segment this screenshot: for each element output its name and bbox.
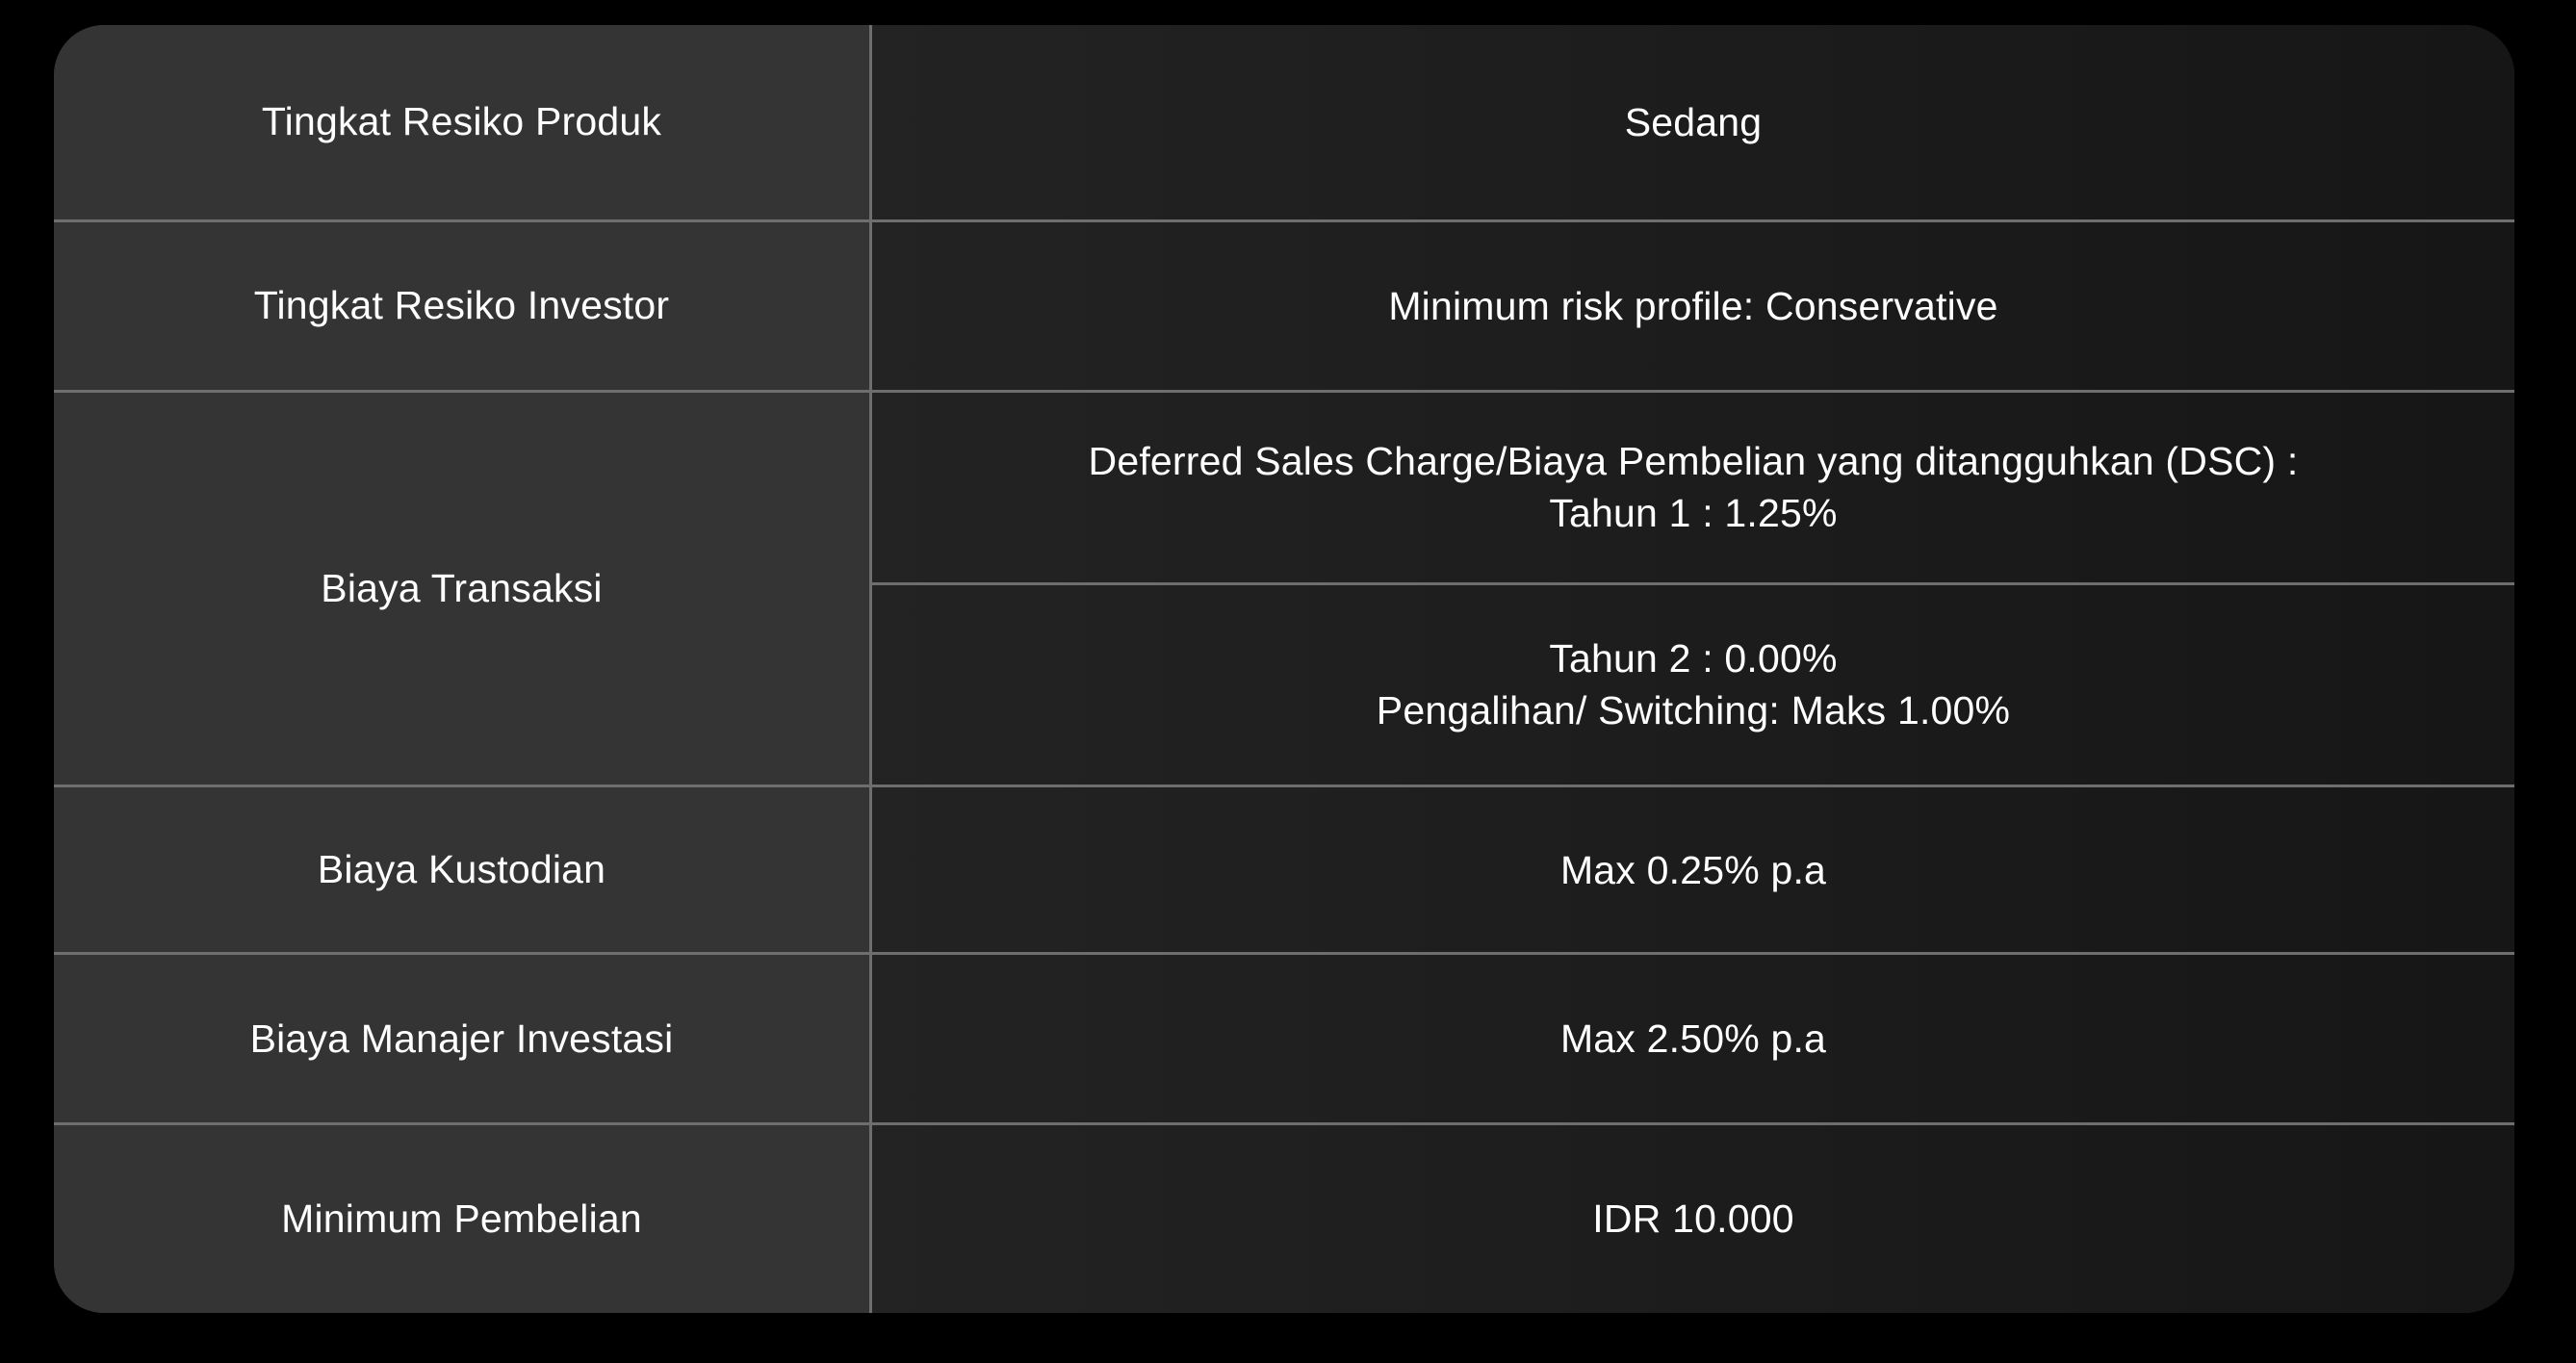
- row-label-cell: Minimum Pembelian: [54, 1125, 872, 1313]
- row-label-cell: Tingkat Resiko Investor: [54, 222, 872, 390]
- row-value: Max 0.25% p.a: [872, 844, 2514, 896]
- row-value-cell: Max 0.25% p.a: [872, 787, 2514, 953]
- page-root: Tingkat Resiko Produk Sedang Tingkat Res…: [0, 0, 2576, 1363]
- row-value: IDR 10.000: [872, 1193, 2514, 1245]
- table-row: Biaya Kustodian Max 0.25% p.a: [54, 787, 2514, 956]
- row-value-subcell-text: Deferred Sales Charge/Biaya Pembelian ya…: [1089, 435, 2299, 539]
- table-row: Tingkat Resiko Investor Minimum risk pro…: [54, 222, 2514, 393]
- row-label-cell: Biaya Manajer Investasi: [54, 955, 872, 1121]
- dsc-year2-line: Tahun 2 : 0.00%: [1377, 632, 2010, 684]
- table-row: Biaya Manajer Investasi Max 2.50% p.a: [54, 955, 2514, 1124]
- table-row: Biaya Transaksi Deferred Sales Charge/Bi…: [54, 393, 2514, 787]
- row-label: Tingkat Resiko Produk: [262, 99, 661, 144]
- row-label: Biaya Manajer Investasi: [250, 1016, 674, 1062]
- row-value-cell: Sedang: [872, 25, 2514, 219]
- row-value-cell: Deferred Sales Charge/Biaya Pembelian ya…: [872, 393, 2514, 784]
- dsc-heading-line: Deferred Sales Charge/Biaya Pembelian ya…: [1089, 435, 2299, 487]
- table-row: Tingkat Resiko Produk Sedang: [54, 25, 2514, 222]
- row-value: Max 2.50% p.a: [872, 1013, 2514, 1065]
- row-value-cell: Max 2.50% p.a: [872, 955, 2514, 1121]
- row-value-cell: Minimum risk profile: Conservative: [872, 222, 2514, 390]
- switching-fee-line: Pengalihan/ Switching: Maks 1.00%: [1377, 684, 2010, 736]
- row-label: Biaya Kustodian: [318, 847, 605, 892]
- row-value-cell: IDR 10.000: [872, 1125, 2514, 1313]
- row-label-cell: Biaya Transaksi: [54, 393, 872, 784]
- dsc-year1-line: Tahun 1 : 1.25%: [1089, 487, 2299, 539]
- row-value: Minimum risk profile: Conservative: [872, 280, 2514, 332]
- row-value-subcell: Tahun 2 : 0.00% Pengalihan/ Switching: M…: [872, 585, 2514, 784]
- row-label-cell: Biaya Kustodian: [54, 787, 872, 953]
- row-value-subcell: Deferred Sales Charge/Biaya Pembelian ya…: [872, 393, 2514, 585]
- row-value-subcell-text: Tahun 2 : 0.00% Pengalihan/ Switching: M…: [1377, 632, 2010, 736]
- row-value: Sedang: [872, 96, 2514, 148]
- row-label: Tingkat Resiko Investor: [254, 283, 669, 328]
- row-label: Minimum Pembelian: [281, 1196, 642, 1242]
- product-info-card: Tingkat Resiko Produk Sedang Tingkat Res…: [54, 25, 2514, 1313]
- row-label-cell: Tingkat Resiko Produk: [54, 25, 872, 219]
- table-row: Minimum Pembelian IDR 10.000: [54, 1125, 2514, 1313]
- row-label: Biaya Transaksi: [321, 566, 602, 611]
